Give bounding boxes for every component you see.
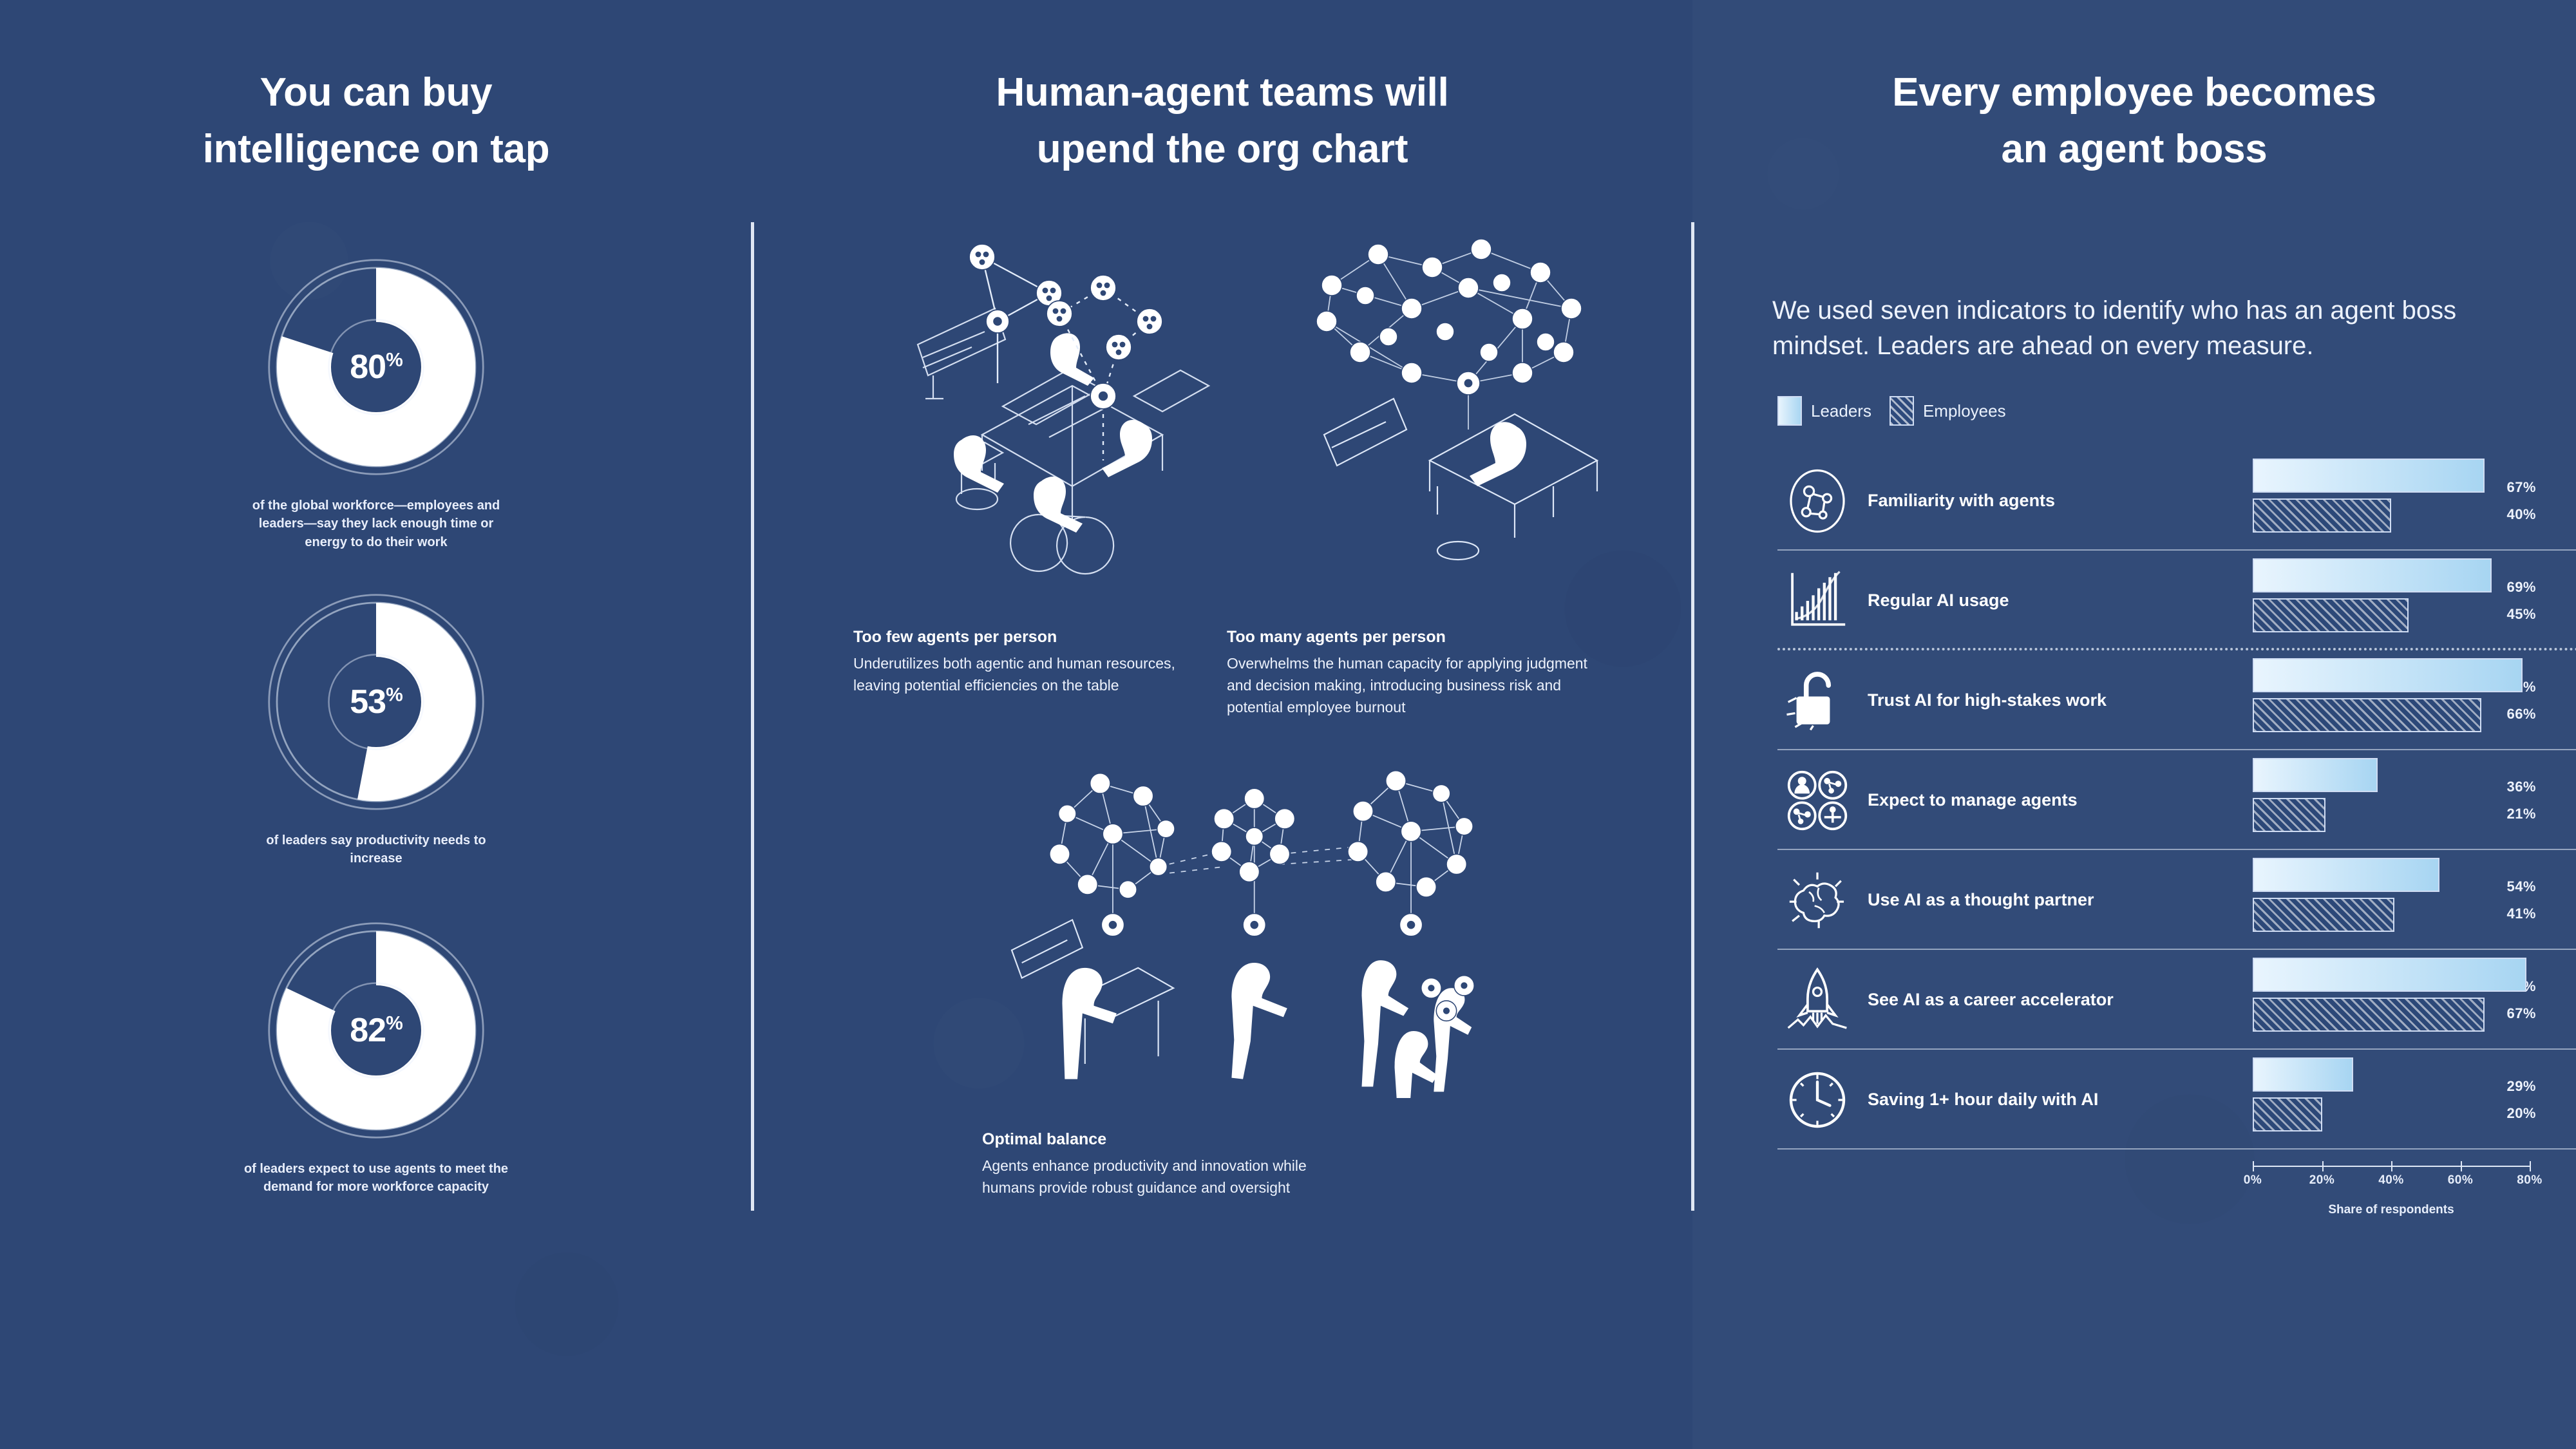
axis-tick-label: 20% [2309, 1173, 2335, 1188]
caption-too-few-body: Underutilizes both agentic and human res… [853, 652, 1201, 696]
legend-label-leaders: Leaders [1811, 401, 1871, 421]
bar-leaders [2253, 958, 2526, 992]
caption-too-few-title: Too few agents per person [853, 628, 1201, 647]
legend-label-employees: Employees [1923, 401, 2006, 421]
headline-right: Every employee becomes an agent boss [1692, 64, 2576, 178]
bar-chart-growth-icon [1783, 566, 1852, 636]
axis-tick-label: 60% [2448, 1173, 2474, 1188]
bar-group [2253, 850, 2530, 950]
headline-middle-line2: upend the org chart [752, 121, 1692, 178]
bar-plot-area [2253, 451, 2530, 1150]
caption-optimal-balance: Optimal balance Agents enhance productiv… [982, 1130, 1343, 1198]
legend-item-leaders[interactable]: Leaders [1777, 396, 1871, 426]
bar-leaders [2253, 758, 2378, 792]
caption-too-many-title: Too many agents per person [1227, 628, 1613, 647]
headline-middle: Human-agent teams will upend the org cha… [752, 64, 1692, 178]
legend-swatch-employees [1889, 396, 1914, 426]
axis-tick-label: 40% [2378, 1173, 2404, 1188]
headline-left: You can buy intelligence on tap [0, 64, 752, 178]
bar-employees [2253, 598, 2409, 632]
bar-employees [2253, 898, 2394, 932]
agent-swarm-illustration [1288, 229, 1636, 602]
chart-intro-text: We used seven indicators to identify who… [1772, 293, 2513, 364]
axis-tick [2253, 1161, 2254, 1171]
column-left: You can buy intelligence on tap 80% of t… [0, 0, 752, 1449]
headline-middle-line1: Human-agent teams will [752, 64, 1692, 121]
donut-value-1: 53% [263, 683, 489, 721]
donut-value-0: 80% [263, 348, 489, 386]
caption-too-few-agents: Too few agents per person Underutilizes … [853, 628, 1201, 696]
bar-employees [2253, 1097, 2322, 1132]
legend-swatch-leaders [1777, 396, 1802, 426]
legend-item-employees[interactable]: Employees [1889, 396, 2006, 426]
donut-caption-0: of the global workforce—employees and le… [241, 497, 511, 551]
people-agents-grid-icon [1783, 766, 1852, 835]
clock-icon [1783, 1065, 1852, 1135]
bar-leaders [2253, 658, 2523, 692]
caption-optimal-title: Optimal balance [982, 1130, 1343, 1149]
bar-group [2253, 1050, 2530, 1150]
axis-line [2253, 1166, 2530, 1167]
donut-block-1: 53% of leaders say productivity needs to… [0, 589, 752, 868]
caption-too-many-body: Overwhelms the human capacity for applyi… [1227, 652, 1613, 718]
bar-group [2253, 950, 2530, 1050]
chart-x-axis: 0%20%40%60%80% Share of respondents [2253, 1166, 2530, 1217]
bar-group [2253, 451, 2530, 551]
brain-idea-icon [1783, 866, 1852, 935]
donut-block-0: 80% of the global workforce—employees an… [0, 254, 752, 551]
bar-employees [2253, 798, 2325, 832]
headline-right-line1: Every employee becomes [1692, 64, 2576, 121]
donut-caption-2: of leaders expect to use agents to meet … [241, 1160, 511, 1197]
caption-too-many-agents: Too many agents per person Overwhelms th… [1227, 628, 1613, 718]
donut-caption-1: of leaders say productivity needs to inc… [241, 831, 511, 868]
headline-right-line2: an agent boss [1692, 121, 2576, 178]
donut-value-2: 82% [263, 1011, 489, 1050]
bar-employees [2253, 698, 2481, 732]
bar-leaders [2253, 1057, 2353, 1092]
open-padlock-icon [1783, 666, 1852, 735]
bar-group [2253, 650, 2530, 750]
bar-employees [2253, 498, 2391, 533]
bar-employees [2253, 998, 2485, 1032]
axis-tick [2461, 1161, 2462, 1171]
headline-left-line1: You can buy [0, 64, 752, 121]
chart-legend: Leaders Employees [1777, 396, 2006, 426]
column-middle [752, 0, 1692, 1449]
bar-group [2253, 750, 2530, 850]
donut-block-2: 82% of leaders expect to use agents to m… [0, 918, 752, 1197]
axis-tick-label: 0% [2244, 1173, 2262, 1188]
bar-group [2253, 551, 2530, 650]
isometric-office-illustration [905, 241, 1304, 602]
donut-chart-0: 80% [263, 254, 489, 480]
network-node-icon [1783, 466, 1852, 536]
axis-tick [2391, 1161, 2392, 1171]
bar-leaders [2253, 858, 2439, 892]
axis-tick [2530, 1161, 2531, 1171]
rocket-launch-icon [1783, 965, 1852, 1035]
bar-leaders [2253, 459, 2485, 493]
donut-chart-2: 82% [263, 918, 489, 1143]
axis-tick-label: 80% [2517, 1173, 2543, 1188]
bar-leaders [2253, 558, 2492, 592]
axis-tick-labels: 0%20%40%60%80% [2253, 1173, 2530, 1195]
caption-optimal-body: Agents enhance productivity and innovati… [982, 1155, 1343, 1198]
axis-title: Share of respondents [2253, 1203, 2530, 1217]
axis-tick [2322, 1161, 2324, 1171]
donut-chart-1: 53% [263, 589, 489, 815]
headline-left-line2: intelligence on tap [0, 121, 752, 178]
optimal-balance-illustration [1005, 763, 1552, 1098]
